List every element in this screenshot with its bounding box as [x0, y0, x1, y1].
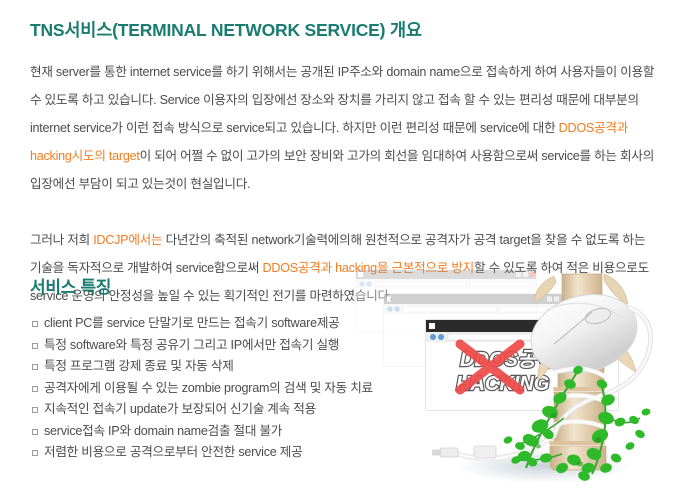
list-item-label: client PC를 service 단말기로 만드는 접속기 software…	[44, 316, 340, 330]
list-item: 저렴한 비용으로 공격으로부터 안전한 service 제공	[30, 442, 373, 464]
list-item-label: 저렴한 비용으로 공격으로부터 안전한 service 제공	[44, 445, 302, 459]
intro-p2-highlight-1: IDCJP에서는	[93, 233, 162, 247]
list-item: 특정 software와 특정 공유기 그리고 IP에서만 접속기 실행	[30, 335, 373, 357]
cable-coils	[550, 369, 606, 428]
square-bullet-icon	[32, 364, 38, 370]
minimize-icon	[591, 324, 598, 330]
feature-list: client PC를 service 단말기로 만드는 접속기 software…	[30, 313, 373, 464]
list-item-label: 공격자에게 이용될 수 있는 zombie program의 검색 및 자동 치…	[44, 381, 373, 395]
mouse-cable	[554, 308, 651, 436]
list-item: client PC를 service 단말기로 만드는 접속기 software…	[30, 313, 373, 335]
list-item-label: 특정 프로그램 강제 종료 및 자동 삭제	[44, 359, 234, 373]
ddos-hacking-stamp: DDOS공격 HACKING	[456, 344, 557, 395]
square-bullet-icon	[32, 407, 38, 413]
intro-p2-segment-1: 그러나 저희	[30, 233, 93, 247]
ground-shadow	[458, 449, 630, 483]
intro-p2-highlight-2: DDOS공격과 hacking을 근본적으로 방지	[263, 261, 475, 275]
window-titlebar	[426, 320, 618, 332]
back-icon	[430, 334, 436, 340]
usb-cable-plug	[432, 436, 554, 459]
close-icon	[607, 323, 615, 330]
list-item-label: 특정 software와 특정 공유기 그리고 IP에서만 접속기 실행	[44, 338, 339, 352]
green-vines	[502, 364, 651, 482]
search-bar	[542, 334, 606, 340]
red-cross-icon	[460, 344, 520, 390]
list-item-label: service접속 IP와 domain name검출 절대 불가	[44, 424, 282, 438]
square-bullet-icon	[32, 429, 38, 435]
intro-paragraph-2: 그러나 저희 IDCJP에서는 다년간의 축적된 network기술력에의해 원…	[30, 226, 655, 310]
square-bullet-icon	[32, 386, 38, 392]
intro-paragraph-1: 현재 server를 통한 internet service를 하기 위해서는 …	[30, 58, 655, 198]
square-bullet-icon	[32, 450, 38, 456]
list-item: 공격자에게 이용될 수 있는 zombie program의 검색 및 자동 치…	[30, 378, 373, 400]
square-bullet-icon	[32, 343, 38, 349]
forward-icon	[438, 334, 444, 340]
list-item: 지속적인 접속기 update가 보장되어 신기술 계속 적용	[30, 399, 373, 421]
square-bullet-icon	[32, 321, 38, 327]
address-bar	[448, 334, 538, 340]
features-section-title: 서비스 특징	[30, 273, 111, 298]
stamp-line-1: DDOS공격	[460, 349, 557, 371]
page-title: TNS서비스(TERMINAL NETWORK SERVICE) 개요	[30, 17, 422, 42]
maximize-icon	[599, 324, 606, 330]
list-item: service접속 IP와 domain name검출 절대 불가	[30, 421, 373, 443]
list-item: 특정 프로그램 강제 종료 및 자동 삭제	[30, 356, 373, 378]
stamp-line-2: HACKING	[456, 373, 549, 395]
intro-copy: 현재 server를 통한 internet service를 하기 위해서는 …	[30, 58, 655, 310]
refresh-icon	[609, 334, 615, 340]
browser-window-front	[426, 320, 618, 410]
list-item-label: 지속적인 접속기 update가 보장되어 신기술 계속 적용	[44, 402, 316, 416]
